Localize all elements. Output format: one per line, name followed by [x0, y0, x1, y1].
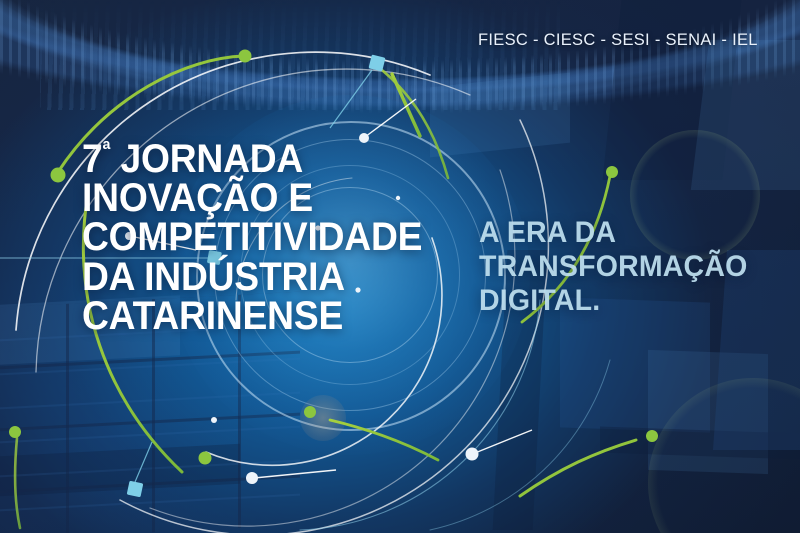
subheadline-line-2: TRANSFORMAÇÃO [479, 250, 747, 284]
lens-flare-center [300, 395, 346, 441]
event-subheadline: A ERA DA TRANSFORMAÇÃO DIGITAL. [479, 216, 747, 318]
subheadline-line-1: A ERA DA [479, 216, 747, 250]
headline-line-4: DA INDÚSTRIA [82, 258, 422, 297]
green-dot-top [239, 50, 252, 63]
white-dot-bottom-right [466, 448, 479, 461]
headline-line-1-rest: JORNADA [110, 137, 303, 181]
green-dot-lower-left [199, 452, 212, 465]
white-dot-small-a [211, 417, 217, 423]
green-dot-upper-left [51, 168, 66, 183]
cyan-square-bottom [127, 481, 144, 498]
subheadline-line-3: DIGITAL. [479, 284, 747, 318]
green-dot-left-edge [9, 426, 21, 438]
green-dot-right [606, 166, 618, 178]
event-banner: FIESC - CIESC - SESI - SENAI - IEL 7ª JO… [0, 0, 800, 533]
background-circuit-texture [40, 0, 560, 110]
event-headline: 7ª JORNADA INOVAÇÃO E COMPETITIVIDADE DA… [82, 140, 422, 336]
cyan-square-top [369, 55, 386, 72]
headline-line-5: CATARINENSE [82, 297, 422, 336]
lens-flare-lower-right [648, 378, 800, 533]
white-dot-bottom-left [246, 472, 258, 484]
headline-edition-number: 7 [82, 137, 103, 181]
green-dot-lower-center [304, 406, 316, 418]
organizations-line: FIESC - CIESC - SESI - SENAI - IEL [478, 31, 758, 50]
headline-line-2: INOVAÇÃO E [82, 179, 422, 218]
headline-line-1: 7ª JORNADA [82, 140, 422, 179]
headline-line-3: COMPETITIVIDADE [82, 218, 422, 257]
green-dot-lower-right [646, 430, 658, 442]
